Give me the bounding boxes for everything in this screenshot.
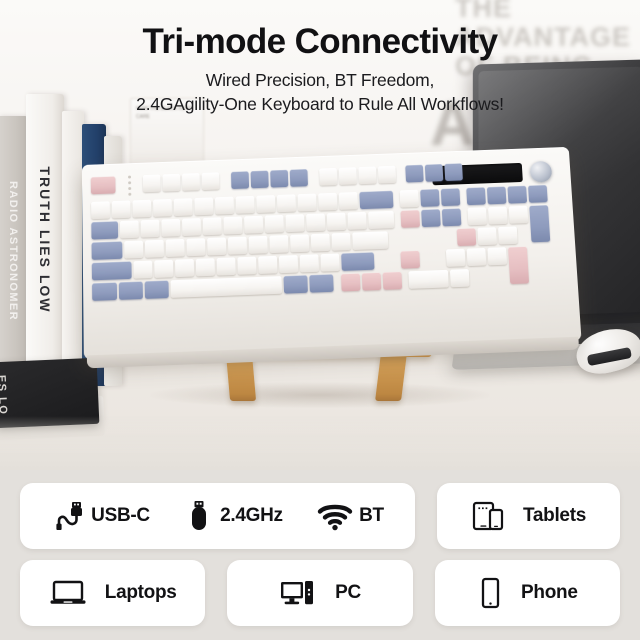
key-insert[interactable] bbox=[400, 190, 419, 208]
key-minus[interactable] bbox=[318, 193, 337, 211]
key-esc[interactable] bbox=[91, 176, 116, 194]
desktop-pc-icon bbox=[279, 577, 317, 609]
key-numpad-enter[interactable] bbox=[508, 246, 529, 284]
badge-bt-label: BT bbox=[359, 505, 384, 527]
key-arrow-down[interactable] bbox=[362, 272, 382, 290]
key-numpad-3[interactable] bbox=[487, 247, 507, 265]
key-u[interactable] bbox=[244, 216, 263, 234]
badge-24ghz-label: 2.4GHz bbox=[220, 505, 283, 527]
subtitle-line-2: 2.4GAgility-One Keyboard to Rule All Wor… bbox=[0, 96, 640, 114]
key-equals[interactable] bbox=[339, 192, 358, 210]
keyboard-plate bbox=[91, 156, 572, 347]
badge-laptops[interactable]: Laptops bbox=[20, 560, 205, 626]
key-numpad-6[interactable] bbox=[498, 226, 518, 244]
key-p[interactable] bbox=[306, 213, 325, 231]
key-y[interactable] bbox=[223, 216, 242, 234]
key-7[interactable] bbox=[236, 196, 255, 214]
key-r[interactable] bbox=[182, 218, 201, 236]
key-period[interactable] bbox=[300, 254, 319, 272]
key-arrow-up[interactable] bbox=[400, 250, 420, 268]
key-f3[interactable] bbox=[182, 173, 200, 191]
badge-laptops-content: Laptops bbox=[49, 578, 177, 608]
key-numpad-9[interactable] bbox=[509, 206, 529, 224]
key-win-left[interactable] bbox=[119, 281, 143, 300]
book-title: RADIO ASTRONOMER bbox=[7, 181, 19, 321]
key-pageup[interactable] bbox=[441, 188, 461, 206]
key-numpad-multiply[interactable] bbox=[507, 186, 527, 204]
key-tilde[interactable] bbox=[91, 201, 110, 219]
badge-pc[interactable]: PC bbox=[227, 560, 412, 626]
key-arrow-right[interactable] bbox=[383, 272, 403, 290]
key-d[interactable] bbox=[166, 239, 185, 257]
led bbox=[128, 193, 131, 196]
page-title: Tri-mode Connectivity bbox=[0, 24, 640, 59]
key-numpad-2[interactable] bbox=[467, 248, 487, 266]
key-8[interactable] bbox=[256, 195, 275, 213]
badge-tablets[interactable]: Tablets bbox=[437, 483, 620, 549]
badge-phone-label: Phone bbox=[521, 582, 578, 604]
key-ctrl-left[interactable] bbox=[92, 282, 117, 301]
key-home[interactable] bbox=[420, 189, 440, 207]
usb-c-cable-icon bbox=[51, 499, 85, 533]
bluetooth-signal-icon bbox=[317, 501, 353, 531]
product-poster: THE ADVANTAGE OF BEING A RADIO ASTRONOME… bbox=[0, 0, 640, 640]
key-comma[interactable] bbox=[279, 255, 298, 273]
key-enter[interactable] bbox=[352, 231, 388, 250]
key-f6[interactable] bbox=[251, 170, 269, 188]
key-i[interactable] bbox=[265, 215, 284, 233]
key-a[interactable] bbox=[124, 240, 143, 258]
key-f1[interactable] bbox=[143, 174, 161, 192]
badge-phone[interactable]: Phone bbox=[435, 560, 620, 626]
badge-usb-c-label: USB-C bbox=[91, 505, 150, 527]
key-alt-left[interactable] bbox=[145, 280, 169, 299]
key-numpad-1[interactable] bbox=[446, 249, 466, 267]
book-spine bbox=[62, 111, 84, 386]
key-scroll[interactable] bbox=[425, 164, 443, 182]
key-4[interactable] bbox=[174, 198, 193, 216]
key-c[interactable] bbox=[175, 259, 194, 277]
connectivity-card[interactable]: USB-C 2.4GHz bbox=[20, 483, 415, 549]
key-backspace[interactable] bbox=[359, 191, 393, 210]
key-numpad-0[interactable] bbox=[408, 270, 449, 289]
phone-icon bbox=[477, 576, 503, 610]
key-fn[interactable] bbox=[309, 274, 333, 292]
key-numpad-plus[interactable] bbox=[529, 205, 550, 242]
key-z[interactable] bbox=[133, 261, 152, 279]
key-f5[interactable] bbox=[231, 171, 249, 189]
key-end[interactable] bbox=[421, 209, 441, 227]
usb-dongle-icon bbox=[184, 499, 214, 533]
key-v[interactable] bbox=[196, 258, 215, 276]
key-g[interactable] bbox=[207, 237, 226, 255]
badge-tablets-content: Tablets bbox=[471, 499, 586, 533]
badge-laptops-label: Laptops bbox=[105, 582, 177, 604]
key-shift-left[interactable] bbox=[92, 261, 132, 280]
key-f4[interactable] bbox=[202, 172, 220, 190]
desk-shadow bbox=[150, 382, 490, 408]
key-f7[interactable] bbox=[270, 170, 288, 188]
key-numpad-7[interactable] bbox=[467, 207, 487, 225]
mechanical-keyboard bbox=[82, 147, 582, 360]
key-numpad-5[interactable] bbox=[477, 227, 497, 245]
key-delete[interactable] bbox=[401, 210, 421, 228]
key-slash[interactable] bbox=[320, 253, 339, 271]
key-l[interactable] bbox=[290, 234, 309, 252]
key-w[interactable] bbox=[141, 220, 160, 238]
key-alt-right[interactable] bbox=[283, 275, 307, 293]
key-arrow-left[interactable] bbox=[341, 273, 361, 291]
key-0[interactable] bbox=[297, 194, 316, 212]
badge-24ghz[interactable]: 2.4GHz bbox=[184, 499, 283, 533]
book-spine: TRUTH LIES LOW bbox=[26, 94, 64, 386]
badge-pc-label: PC bbox=[335, 582, 361, 604]
keyboard-knob[interactable] bbox=[529, 161, 552, 183]
key-numpad-8[interactable] bbox=[488, 207, 508, 225]
badge-usb-c[interactable]: USB-C bbox=[51, 499, 150, 533]
key-6[interactable] bbox=[215, 197, 234, 215]
key-f9[interactable] bbox=[319, 168, 337, 186]
key-f8[interactable] bbox=[290, 169, 308, 187]
badge-row-devices: Laptops bbox=[20, 560, 620, 626]
badge-pc-content: PC bbox=[279, 577, 361, 609]
key-semicolon[interactable] bbox=[311, 233, 330, 251]
key-f2[interactable] bbox=[162, 174, 180, 192]
key-j[interactable] bbox=[249, 236, 268, 254]
key-f11[interactable] bbox=[358, 166, 376, 184]
subtitle-line-1: Wired Precision, BT Freedom, bbox=[0, 72, 640, 90]
key-k[interactable] bbox=[269, 235, 288, 253]
key-numpad-decimal[interactable] bbox=[450, 269, 470, 287]
key-n[interactable] bbox=[237, 257, 256, 275]
badge-row-connectivity: USB-C 2.4GHz bbox=[20, 483, 620, 549]
key-shift-right[interactable] bbox=[341, 252, 374, 271]
key-b[interactable] bbox=[217, 257, 236, 275]
key-space[interactable] bbox=[170, 276, 282, 298]
tablet-phone-icon bbox=[471, 499, 505, 533]
badge-grid: USB-C 2.4GHz bbox=[20, 483, 620, 637]
key-t[interactable] bbox=[203, 217, 222, 235]
feature-badge-panel: USB-C 2.4GHz bbox=[0, 470, 640, 640]
key-numpad-4[interactable] bbox=[457, 228, 477, 246]
key-9[interactable] bbox=[277, 194, 296, 212]
scene-fade bbox=[0, 416, 640, 470]
badge-tablets-label: Tablets bbox=[523, 505, 586, 527]
key-numpad-divide[interactable] bbox=[487, 186, 507, 204]
key-o[interactable] bbox=[285, 214, 304, 232]
book-title: TRUTH LIES LOW bbox=[37, 167, 53, 314]
key-s[interactable] bbox=[145, 240, 164, 258]
key-3[interactable] bbox=[153, 199, 172, 217]
badge-phone-content: Phone bbox=[477, 576, 578, 610]
key-f12[interactable] bbox=[378, 166, 396, 184]
key-tab[interactable] bbox=[91, 221, 118, 239]
flat-book-title: ES LO bbox=[0, 375, 9, 416]
key-backslash[interactable] bbox=[368, 211, 394, 229]
key-q[interactable] bbox=[120, 220, 139, 238]
key-bracket-right[interactable] bbox=[347, 212, 366, 230]
key-1[interactable] bbox=[112, 200, 131, 218]
key-quote[interactable] bbox=[331, 233, 350, 251]
key-bracket-left[interactable] bbox=[327, 213, 346, 231]
key-h[interactable] bbox=[228, 237, 247, 255]
key-print[interactable] bbox=[405, 165, 423, 183]
key-f10[interactable] bbox=[339, 167, 357, 185]
key-pause[interactable] bbox=[444, 163, 463, 181]
key-2[interactable] bbox=[132, 200, 151, 218]
key-capslock[interactable] bbox=[92, 241, 123, 260]
key-f[interactable] bbox=[186, 238, 205, 256]
key-pagedown[interactable] bbox=[442, 208, 462, 226]
key-e[interactable] bbox=[161, 219, 180, 237]
key-5[interactable] bbox=[194, 197, 213, 215]
key-x[interactable] bbox=[154, 260, 173, 278]
key-numlock[interactable] bbox=[466, 187, 486, 205]
key-numpad-minus[interactable] bbox=[528, 185, 548, 203]
key-m[interactable] bbox=[258, 256, 277, 274]
badge-bt[interactable]: BT bbox=[317, 501, 384, 531]
laptop-icon bbox=[49, 578, 87, 608]
book-spine: RADIO ASTRONOMER bbox=[0, 116, 28, 386]
